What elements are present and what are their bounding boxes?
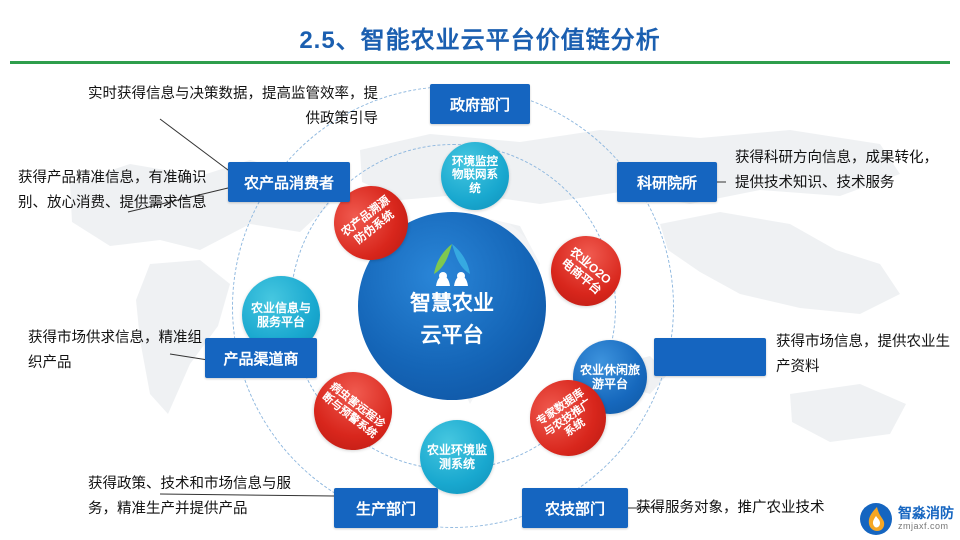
actor-label: 科研院所 [637, 172, 697, 193]
platform-bubble-env-iot[interactable]: 环境监控物联网系统 [441, 142, 509, 210]
platform-label: 病虫害远程诊断与预警系统 [314, 377, 391, 445]
actor-label: 生产部门 [356, 498, 416, 519]
actor-box-gov[interactable]: 政府部门 [430, 84, 530, 124]
watermark: 智淼消防 zmjaxf.com [859, 502, 954, 536]
title-bar: 2.5、智能农业云平台价值链分析 [0, 0, 960, 62]
watermark-domain: zmjaxf.com [898, 522, 954, 532]
platform-label: 农业环境监测系统 [420, 443, 494, 471]
actor-box-consumer[interactable]: 农产品消费者 [228, 162, 350, 202]
page-title: 2.5、智能农业云平台价值链分析 [0, 20, 960, 55]
center-line-1: 智慧农业 [358, 288, 546, 320]
note-research: 获得科研方向信息，成果转化，提供技术知识、技术服务 [735, 146, 940, 195]
diagram-stage: 智慧农业 云平台 环境监控物联网系统 农业O2O电商平台 农业休闲旅游平台 专家… [0, 64, 960, 540]
platform-label: 农业信息与服务平台 [242, 301, 320, 329]
flame-logo-icon [859, 502, 893, 536]
platform-label: 农业O2O电商平台 [550, 238, 622, 305]
center-node-label: 智慧农业 云平台 [358, 288, 546, 351]
actor-label: 产品渠道商 [223, 348, 298, 369]
leaf-people-logo-icon [424, 242, 480, 286]
actor-label: 农技部门 [545, 498, 605, 519]
platform-bubble-env-monitor[interactable]: 农业环境监测系统 [420, 420, 494, 494]
actor-box-producer[interactable]: 生产部门 [334, 488, 438, 528]
actor-label: 政府部门 [450, 94, 510, 115]
note-supplier: 获得市场信息，提供农业生产资料 [776, 330, 956, 379]
platform-label: 环境监控物联网系统 [441, 156, 509, 197]
note-agritech: 获得服务对象，推广农业技术 [636, 496, 886, 521]
note-gov: 实时获得信息与决策数据，提高监管效率，提供政策引导 [78, 82, 378, 131]
center-line-2: 云平台 [358, 320, 546, 352]
actor-box-research[interactable]: 科研院所 [617, 162, 717, 202]
note-producer: 获得政策、技术和市场信息与服务，精准生产并提供产品 [88, 472, 318, 521]
actor-box-supplier[interactable] [654, 338, 766, 376]
note-consumer: 获得产品精准信息，有准确识别、放心消费、提供需求信息 [18, 166, 218, 215]
watermark-title: 智淼消防 [898, 506, 954, 521]
actor-label: 农产品消费者 [244, 172, 334, 193]
note-channel: 获得市场供求信息，精准组织产品 [28, 326, 208, 375]
actor-box-channel[interactable]: 产品渠道商 [205, 338, 317, 378]
actor-box-agritech[interactable]: 农技部门 [522, 488, 628, 528]
